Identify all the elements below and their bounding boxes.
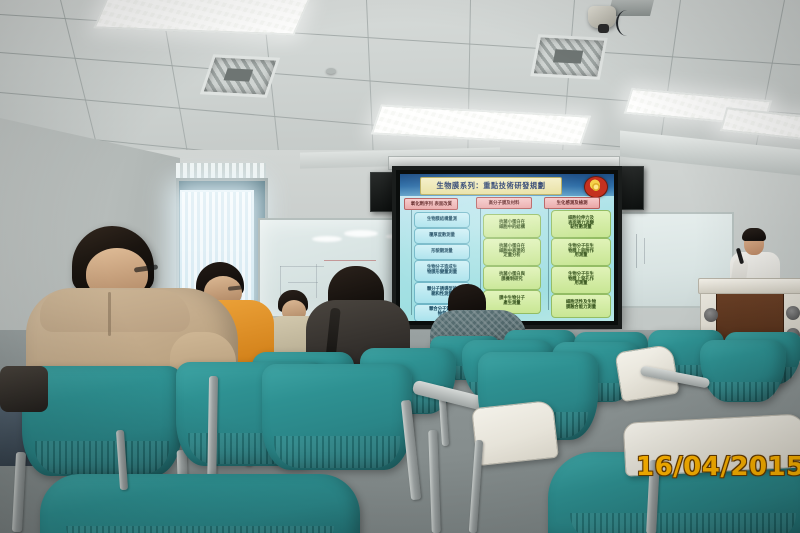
lecture-hall-photo: 生物膜系列：重點技術研發規劃 氧化劑序列 表面改質 高分子膜及材料 生化感測及檢… bbox=[0, 0, 800, 533]
writing-tablet bbox=[471, 400, 559, 466]
podium-speaker-grille-icon bbox=[704, 308, 718, 322]
smoke-detector-icon bbox=[326, 68, 336, 74]
presenter-glasses-icon bbox=[746, 240, 762, 245]
screen-glare bbox=[400, 174, 614, 321]
presentation-slide: 生物膜系列：重點技術研發規劃 氧化劑序列 表面改質 高分子膜及材料 生化感測及檢… bbox=[400, 174, 614, 321]
camera-lens-icon bbox=[598, 24, 609, 33]
projection-screen: 生物膜系列：重點技術研發規劃 氧化劑序列 表面改質 高分子膜及材料 生化感測及檢… bbox=[392, 166, 622, 329]
right-wall-speaker bbox=[620, 166, 644, 210]
camera-cable bbox=[616, 10, 638, 36]
ac-diffuser bbox=[200, 54, 280, 98]
podium-speaker-grille-icon bbox=[786, 306, 800, 320]
left-wall-speaker bbox=[370, 172, 394, 212]
date-stamp: 16/04/2015 bbox=[636, 452, 800, 482]
podium-top bbox=[698, 278, 800, 294]
bag-on-floor bbox=[0, 366, 48, 412]
ac-diffuser bbox=[530, 34, 607, 80]
hoodie-seam bbox=[108, 292, 111, 336]
hoodie-hood bbox=[40, 290, 190, 332]
